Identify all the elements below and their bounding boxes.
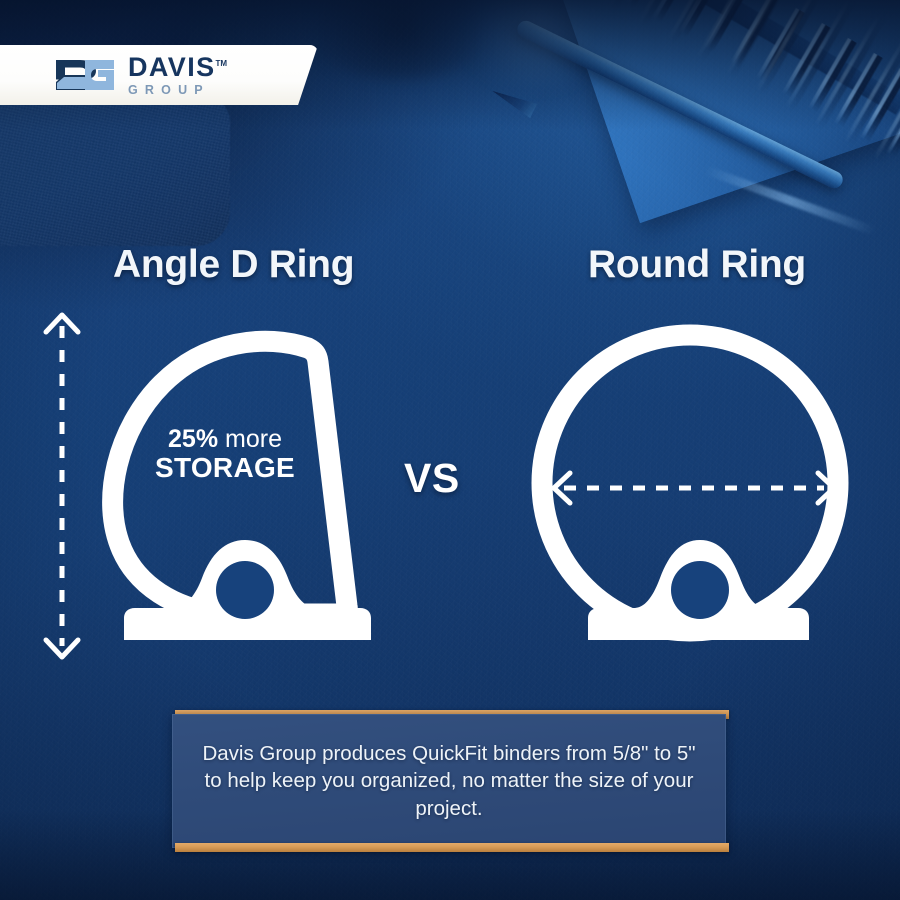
infographic-canvas: DAVISTM GROUP Angle D Ring Round Ring 25… xyxy=(0,0,900,900)
brand-logo-banner: DAVISTM GROUP xyxy=(0,45,318,105)
caption-rule-bottom xyxy=(175,843,729,852)
trademark-mark: TM xyxy=(216,59,228,68)
angle-d-ring-title: Angle D Ring xyxy=(113,243,354,287)
brand-subtitle: GROUP xyxy=(128,84,227,97)
brand-name: DAVISTM xyxy=(128,54,227,81)
round-ring-title: Round Ring xyxy=(588,243,806,287)
caption-text: Davis Group produces QuickFit binders fr… xyxy=(172,740,726,822)
angle-d-ring-icon xyxy=(78,318,408,648)
vertical-double-arrow-icon xyxy=(36,310,88,662)
storage-more-label: more xyxy=(218,425,282,453)
dg-monogram-icon xyxy=(54,56,116,94)
storage-percent: 25% xyxy=(168,425,218,453)
storage-label: STORAGE xyxy=(141,454,309,483)
horizontal-double-arrow-icon xyxy=(548,462,840,514)
caption-panel: Davis Group produces QuickFit binders fr… xyxy=(172,714,726,848)
storage-badge: 25% more STORAGE xyxy=(141,427,309,483)
versus-label: VS xyxy=(404,455,460,502)
